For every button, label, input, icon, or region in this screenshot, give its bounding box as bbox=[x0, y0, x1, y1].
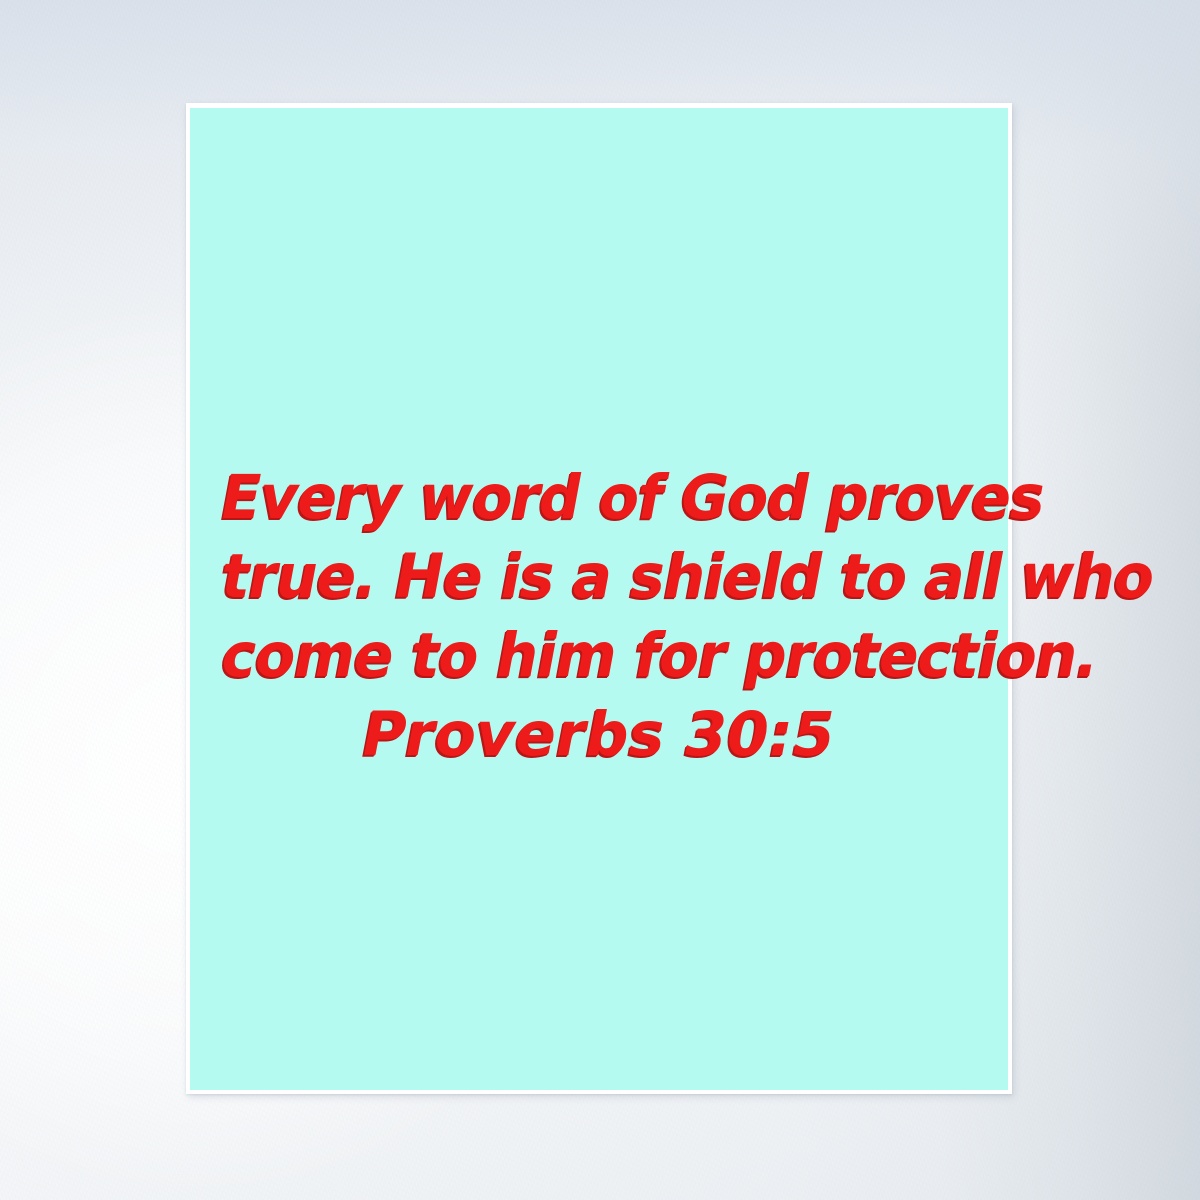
poster-scene: Every word of God proves true. He is a s… bbox=[0, 0, 1200, 1200]
verse-text-block: Every word of God proves true. He is a s… bbox=[190, 458, 1008, 774]
poster-canvas: Every word of God proves true. He is a s… bbox=[190, 108, 1008, 1090]
verse-reference: Proverbs 30:5 bbox=[212, 695, 986, 774]
verse-line-2: true. He is a shield to all who bbox=[222, 537, 976, 616]
verse-line-3: come to him for protection. bbox=[222, 616, 976, 695]
poster: Every word of God proves true. He is a s… bbox=[186, 103, 1012, 1094]
verse-line-1: Every word of God proves bbox=[222, 458, 976, 537]
